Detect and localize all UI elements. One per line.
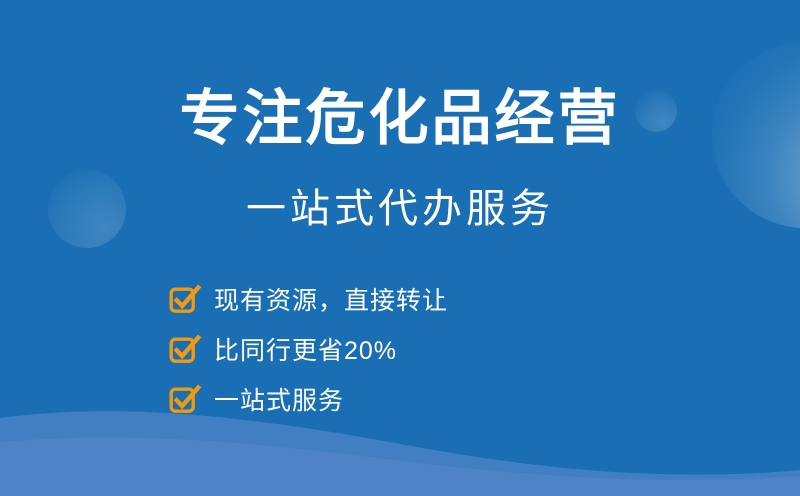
list-item-label: 现有资源，直接转让 bbox=[214, 286, 448, 316]
subtitle: 一站式代办服务 bbox=[0, 182, 800, 236]
list-item: 比同行更省20% bbox=[170, 326, 690, 376]
list-item: 一站式服务 bbox=[170, 376, 690, 426]
checkbox-checked-icon bbox=[170, 286, 200, 316]
feature-list: 现有资源，直接转让 比同行更省20% 一站式 bbox=[170, 276, 690, 426]
promo-banner: 专注危化品经营 一站式代办服务 现有资源，直接转让 bbox=[0, 0, 800, 496]
checkbox-checked-icon bbox=[170, 336, 200, 366]
checkbox-checked-icon bbox=[170, 386, 200, 416]
banner-content: 专注危化品经营 一站式代办服务 现有资源，直接转让 bbox=[0, 0, 800, 496]
list-item-label: 比同行更省20% bbox=[214, 336, 397, 366]
headline: 专注危化品经营 bbox=[0, 82, 800, 156]
list-item: 现有资源，直接转让 bbox=[170, 276, 690, 326]
list-item-label: 一站式服务 bbox=[214, 386, 344, 416]
